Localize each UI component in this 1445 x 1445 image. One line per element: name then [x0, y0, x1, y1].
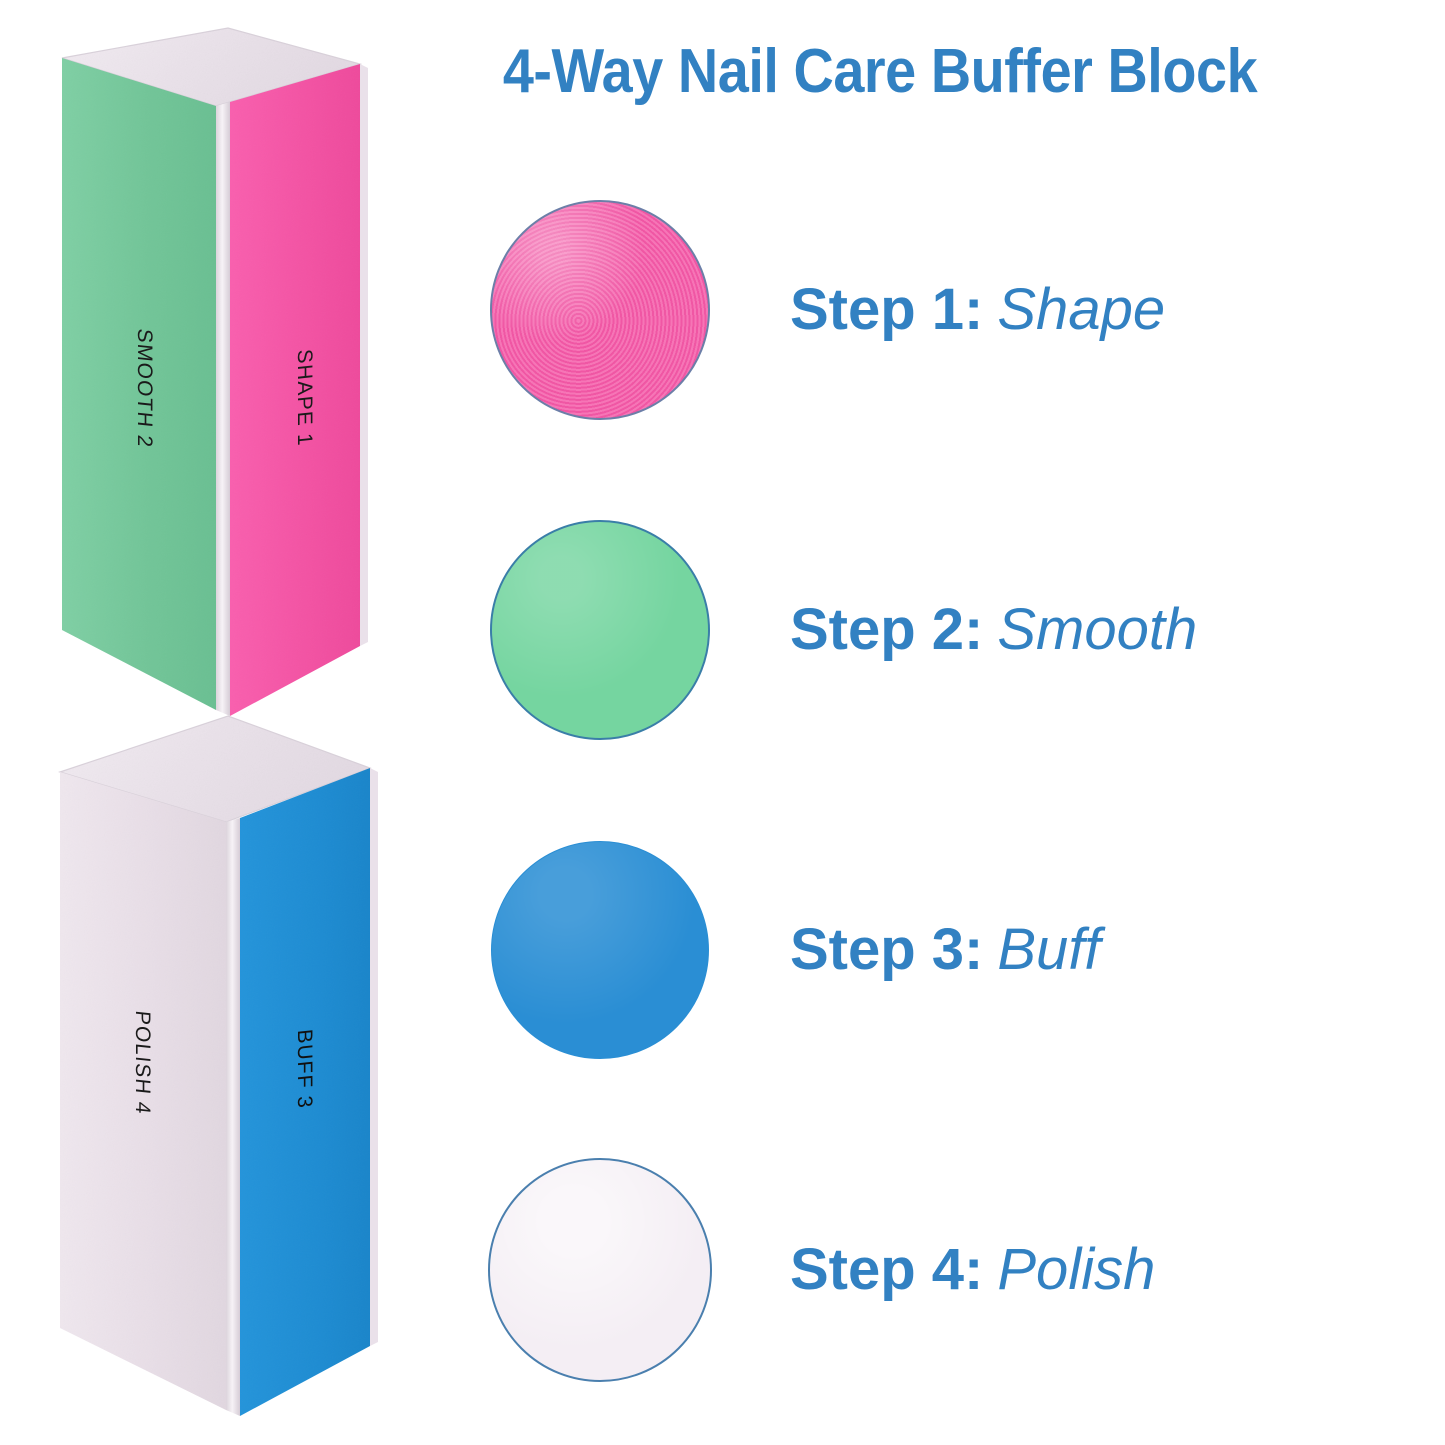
swatch-wrap-1	[470, 180, 730, 440]
top-block-right-face-label: SHAPE 1	[293, 348, 316, 447]
step-number-4: Step 4:	[790, 1237, 983, 1302]
swatch-wrap-3	[470, 820, 730, 1080]
step-number-2: Step 2:	[790, 597, 983, 662]
step-row-4: Step 4:Polish	[470, 1120, 1370, 1420]
step-action-3: Buff	[997, 917, 1100, 982]
step-number-3: Step 3:	[790, 917, 983, 982]
step-label-4: Step 4:Polish	[790, 1238, 1155, 1302]
step-row-2: Step 2:Smooth	[470, 480, 1370, 780]
step-label-3: Step 3:Buff	[790, 918, 1101, 982]
step-action-2: Smooth	[997, 597, 1197, 662]
step-row-3: Step 3:Buff	[470, 800, 1370, 1100]
step-action-4: Polish	[997, 1237, 1155, 1302]
step-label-2: Step 2:Smooth	[790, 598, 1197, 662]
polish-white-swatch	[488, 1158, 712, 1382]
top-block-center-edge	[216, 102, 230, 716]
page-title: 4-Way Nail Care Buffer Block	[448, 36, 1312, 108]
step-label-1: Step 1:Shape	[790, 278, 1165, 342]
top-block-left-face-label: SMOOTH 2	[133, 327, 156, 449]
smooth-green-swatch	[490, 520, 710, 740]
product-infographic: 4-Way Nail Care Buffer Block	[0, 0, 1445, 1445]
bottom-block-right-face-label: BUFF 3	[293, 1028, 316, 1110]
swatch-wrap-4	[470, 1140, 730, 1400]
top-block-right-edge	[360, 64, 368, 646]
bottom-block-left-face-label: POLISH 4	[131, 1009, 154, 1116]
product-image: SMOOTH 2 SHAPE 1	[30, 10, 430, 1435]
step-action-1: Shape	[997, 277, 1165, 342]
bottom-block-right-edge	[370, 768, 378, 1346]
shape-pink-swatch	[490, 200, 710, 420]
buff-blue-swatch	[491, 841, 709, 1059]
step-number-1: Step 1:	[790, 277, 983, 342]
swatch-wrap-2	[470, 500, 730, 760]
bottom-block-center-edge	[226, 818, 240, 1416]
step-row-1: Step 1:Shape	[470, 160, 1370, 460]
